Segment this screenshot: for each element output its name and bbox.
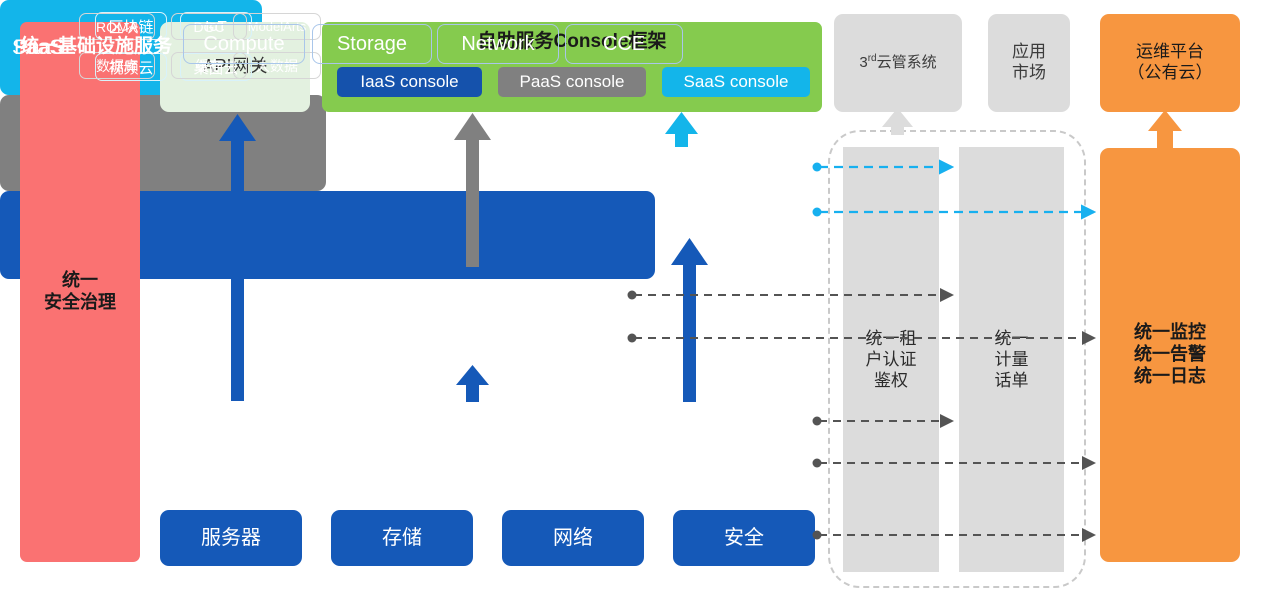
arrow-saas-to-console xyxy=(665,112,698,147)
app-market-box: 应用市场 xyxy=(988,14,1070,112)
unified-tenant-auth-label: 统一租户认证鉴权 xyxy=(866,328,917,392)
ops-platform-public-cloud-box: 运维平台（公有云） xyxy=(1100,14,1240,112)
infra-chip-storage-label: Storage xyxy=(337,33,407,56)
console-chip-iaas[interactable]: IaaS console xyxy=(337,67,482,97)
console-chip-paas[interactable]: PaaS console xyxy=(498,67,646,97)
security-governance-pillar: 统一安全治理 xyxy=(20,22,140,562)
ops-platform-monitoring-label: 统一监控统一告警统一日志 xyxy=(1134,322,1206,388)
app-market-label: 应用市场 xyxy=(1012,42,1046,83)
hardware-box-security: 安全 xyxy=(673,510,815,566)
arrow-infra-to-saas xyxy=(671,238,708,402)
console-chip-saas[interactable]: SaaS console xyxy=(662,67,810,97)
unified-tenant-auth-column: 统一租户认证鉴权 xyxy=(843,147,939,572)
console-chip-paas-label: PaaS console xyxy=(520,72,625,93)
infra-chip-network[interactable]: Network xyxy=(437,24,559,64)
infra-chip-compute[interactable]: Compute xyxy=(183,24,305,64)
infra-chip-cce[interactable]: CCE xyxy=(565,24,683,64)
hardware-box-network-label: 网络 xyxy=(553,526,593,550)
unified-billing-label: 统一计量话单 xyxy=(995,328,1029,392)
arrow-ops-body-to-ops-top xyxy=(1148,110,1182,150)
infra-chip-storage[interactable]: Storage xyxy=(312,24,432,64)
unified-infrastructure-label: 统一基础设施服务 xyxy=(20,0,172,88)
hardware-box-server: 服务器 xyxy=(160,510,302,566)
third-party-cloud-mgmt-box: 3rd云管系统 xyxy=(834,14,962,112)
hardware-box-storage: 存储 xyxy=(331,510,473,566)
hardware-box-server-label: 服务器 xyxy=(201,526,261,550)
infra-chip-compute-label: Compute xyxy=(203,33,284,56)
unified-billing-column: 统一计量话单 xyxy=(959,147,1064,572)
ops-platform-monitoring-box: 统一监控统一告警统一日志 xyxy=(1100,148,1240,562)
hardware-box-network: 网络 xyxy=(502,510,644,566)
ops-platform-public-cloud-label: 运维平台（公有云） xyxy=(1128,42,1213,83)
hardware-box-security-label: 安全 xyxy=(724,526,764,550)
third-party-cloud-mgmt-label: 3rd云管系统 xyxy=(859,53,936,72)
architecture-diagram: 统一安全治理 API网关 自助服务Console框架 IaaS console … xyxy=(0,0,1265,605)
security-governance-label: 统一安全治理 xyxy=(44,270,116,314)
hardware-box-storage-label: 存储 xyxy=(382,526,422,550)
console-chip-saas-label: SaaS console xyxy=(684,72,789,93)
arrow-infra-to-paas xyxy=(456,365,489,402)
infra-chip-network-label: Network xyxy=(461,33,534,56)
console-chip-iaas-label: IaaS console xyxy=(360,72,458,93)
infra-chip-cce-label: CCE xyxy=(603,33,645,56)
